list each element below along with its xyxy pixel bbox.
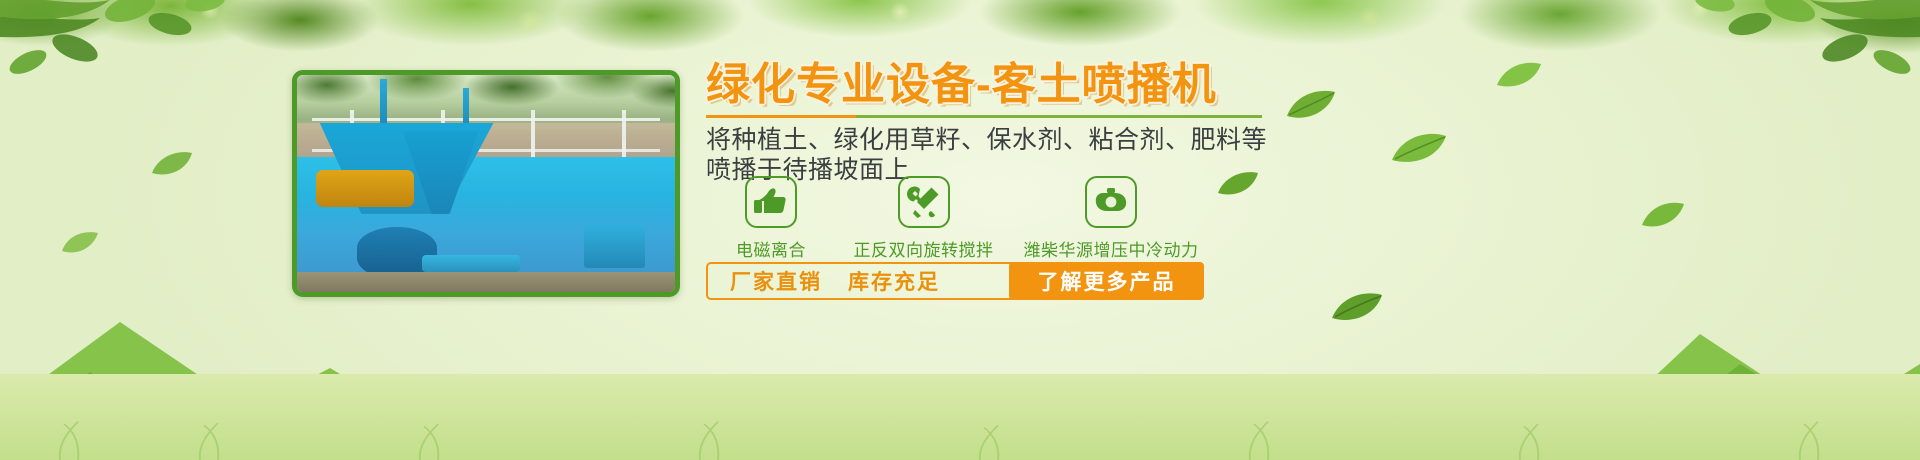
photo-post — [622, 110, 626, 162]
cta-text-2: 库存充足 — [848, 266, 940, 296]
grass-tufts-decoration — [0, 340, 1920, 460]
photo-railing — [312, 118, 660, 121]
thumbs-up-icon — [745, 176, 797, 228]
photo-control-box — [584, 225, 644, 268]
right-branch-decoration — [1610, 0, 1920, 110]
banner-text-content: 绿化专业设备-客土喷播机 将种植土、绿化用草籽、保水剂、粘合剂、肥料等 喷播于待… — [706, 62, 1346, 186]
wrench-screwdriver-icon — [898, 176, 950, 228]
title-underline — [706, 115, 1262, 118]
engine-gear-icon — [1085, 176, 1137, 228]
cta-bar: 厂家直销 库存充足 了解更多产品 — [706, 262, 1204, 300]
feature-item: 正反双向旋转搅拌 — [836, 176, 1011, 261]
feature-item: 潍柴华源增压中冷动力 — [1011, 176, 1211, 261]
floating-leaf-icon — [1640, 200, 1686, 230]
product-photo — [292, 70, 680, 297]
subtitle-line-1: 将种植土、绿化用草籽、保水剂、粘合剂、肥料等 — [706, 125, 1346, 156]
feature-label: 电磁离合 — [736, 236, 806, 261]
cta-text-group: 厂家直销 库存充足 — [708, 264, 1009, 298]
photo-post — [531, 110, 535, 162]
product-photo-image — [297, 75, 675, 292]
floating-leaf-icon — [1390, 130, 1448, 166]
left-branch-decoration — [0, 0, 310, 110]
promo-banner: 绿化专业设备-客土喷播机 将种植土、绿化用草籽、保水剂、粘合剂、肥料等 喷播于待… — [0, 0, 1920, 460]
feature-item: 电磁离合 — [706, 176, 836, 261]
cta-text-1: 厂家直销 — [730, 266, 822, 296]
floating-leaf-icon — [150, 150, 194, 178]
floating-leaf-icon — [60, 230, 100, 256]
photo-ground — [297, 272, 675, 292]
feature-label: 正反双向旋转搅拌 — [854, 236, 994, 261]
photo-drum — [316, 170, 414, 207]
feature-list: 电磁离合 正反双向旋转搅拌 潍柴华源增压中冷动力 — [706, 176, 1346, 261]
photo-pipe — [422, 255, 520, 272]
learn-more-button[interactable]: 了解更多产品 — [1009, 262, 1204, 300]
feature-label: 潍柴华源增压中冷动力 — [1024, 236, 1199, 261]
page-title: 绿化专业设备-客土喷播机 — [706, 62, 1346, 109]
